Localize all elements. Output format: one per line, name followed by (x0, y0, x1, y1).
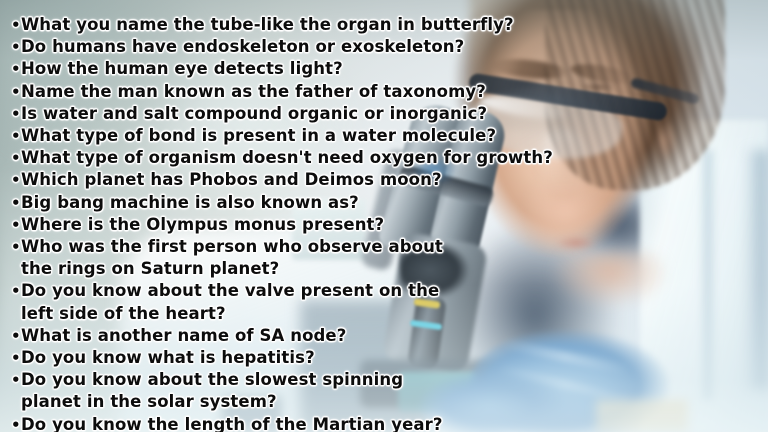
question-item: •What type of organism doesn't need oxyg… (8, 147, 768, 169)
question-text: What type of organism doesn't need oxyge… (21, 148, 553, 167)
question-list: •What you name the tube-like the organ i… (0, 0, 768, 432)
question-item: •Do you know about the valve present on … (8, 280, 768, 324)
bullet-icon: • (11, 147, 21, 169)
bullet-icon: • (11, 36, 21, 58)
screenshot-root: •What you name the tube-like the organ i… (0, 0, 768, 432)
bullet-icon: • (11, 214, 21, 236)
question-text: Who was the first person who observe abo… (21, 237, 443, 278)
question-text: What type of bond is present in a water … (21, 126, 496, 145)
bullet-icon: • (11, 103, 21, 125)
question-item: •Do you know about the slowest spinning … (8, 369, 768, 413)
question-item: •Which planet has Phobos and Deimos moon… (8, 169, 768, 191)
question-text: Do humans have endoskeleton or exoskelet… (21, 37, 464, 56)
question-text: Do you know about the valve present on t… (21, 281, 439, 322)
question-text: Do you know what is hepatitis? (21, 348, 315, 367)
question-item: •Is water and salt compound organic or i… (8, 103, 768, 125)
question-item: •What is another name of SA node? (8, 325, 768, 347)
question-item: •Do you know the length of the Martian y… (8, 414, 768, 432)
question-item: •What you name the tube-like the organ i… (8, 14, 768, 36)
bullet-icon: • (11, 14, 21, 36)
bullet-icon: • (11, 347, 21, 369)
question-text: Is water and salt compound organic or in… (21, 104, 487, 123)
bullet-icon: • (11, 236, 21, 258)
question-text: What you name the tube-like the organ in… (21, 15, 514, 34)
question-item: •Where is the Olympus monus present? (8, 214, 768, 236)
question-item: •Name the man known as the father of tax… (8, 81, 768, 103)
bullet-icon: • (11, 369, 21, 391)
bullet-icon: • (11, 280, 21, 302)
bullet-icon: • (11, 192, 21, 214)
bullet-icon: • (11, 125, 21, 147)
question-text: Do you know about the slowest spinning p… (21, 370, 403, 411)
question-text: Do you know the length of the Martian ye… (21, 415, 443, 432)
bullet-icon: • (11, 81, 21, 103)
question-text: Where is the Olympus monus present? (21, 215, 384, 234)
question-text: Name the man known as the father of taxo… (21, 82, 486, 101)
bullet-icon: • (11, 325, 21, 347)
question-item: •Do you know what is hepatitis? (8, 347, 768, 369)
question-text: Big bang machine is also known as? (21, 193, 359, 212)
question-item: •How the human eye detects light? (8, 58, 768, 80)
question-text: Which planet has Phobos and Deimos moon? (21, 170, 442, 189)
question-text: What is another name of SA node? (21, 326, 346, 345)
question-item: •Do humans have endoskeleton or exoskele… (8, 36, 768, 58)
bullet-icon: • (11, 414, 21, 432)
question-item: •Big bang machine is also known as? (8, 192, 768, 214)
bullet-icon: • (11, 58, 21, 80)
question-text: How the human eye detects light? (21, 59, 343, 78)
bullet-icon: • (11, 169, 21, 191)
question-item: •What type of bond is present in a water… (8, 125, 768, 147)
question-item: •Who was the first person who observe ab… (8, 236, 768, 280)
